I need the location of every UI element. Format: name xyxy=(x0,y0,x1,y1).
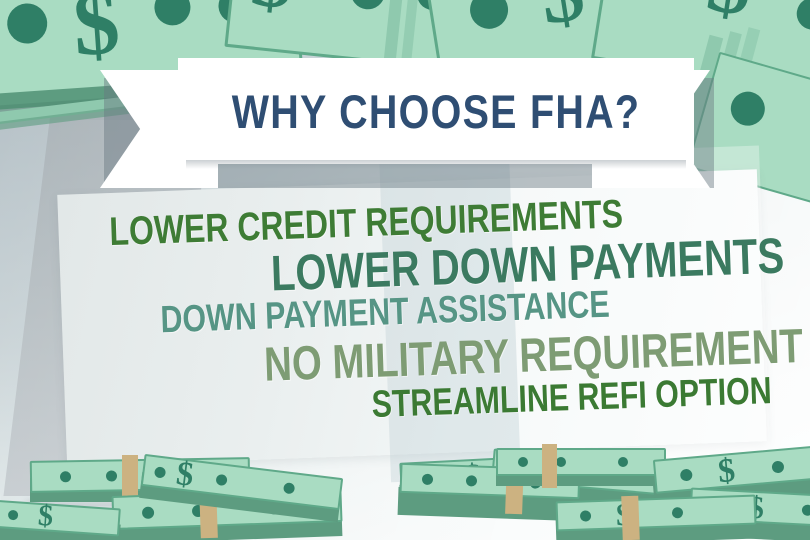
page-title: WHY CHOOSE FHA? xyxy=(219,58,652,164)
bill-dot xyxy=(618,457,628,467)
money-band xyxy=(122,455,138,500)
money-band xyxy=(621,496,640,540)
money-band xyxy=(542,444,557,488)
dollar-sign-icon: $ xyxy=(70,0,122,70)
bill-dot xyxy=(556,457,566,467)
bill-dot xyxy=(802,504,810,516)
infographic-canvas: $ $ $ $ xyxy=(0,0,810,540)
dollar-sign-icon: $ xyxy=(37,501,54,532)
dollar-sign-icon: $ xyxy=(717,454,737,489)
content-panel-strip-a xyxy=(379,148,521,483)
content-panel-strip-b xyxy=(509,146,771,485)
bill-dot xyxy=(518,457,528,467)
dollar-bill-bottom-7 xyxy=(496,448,666,476)
